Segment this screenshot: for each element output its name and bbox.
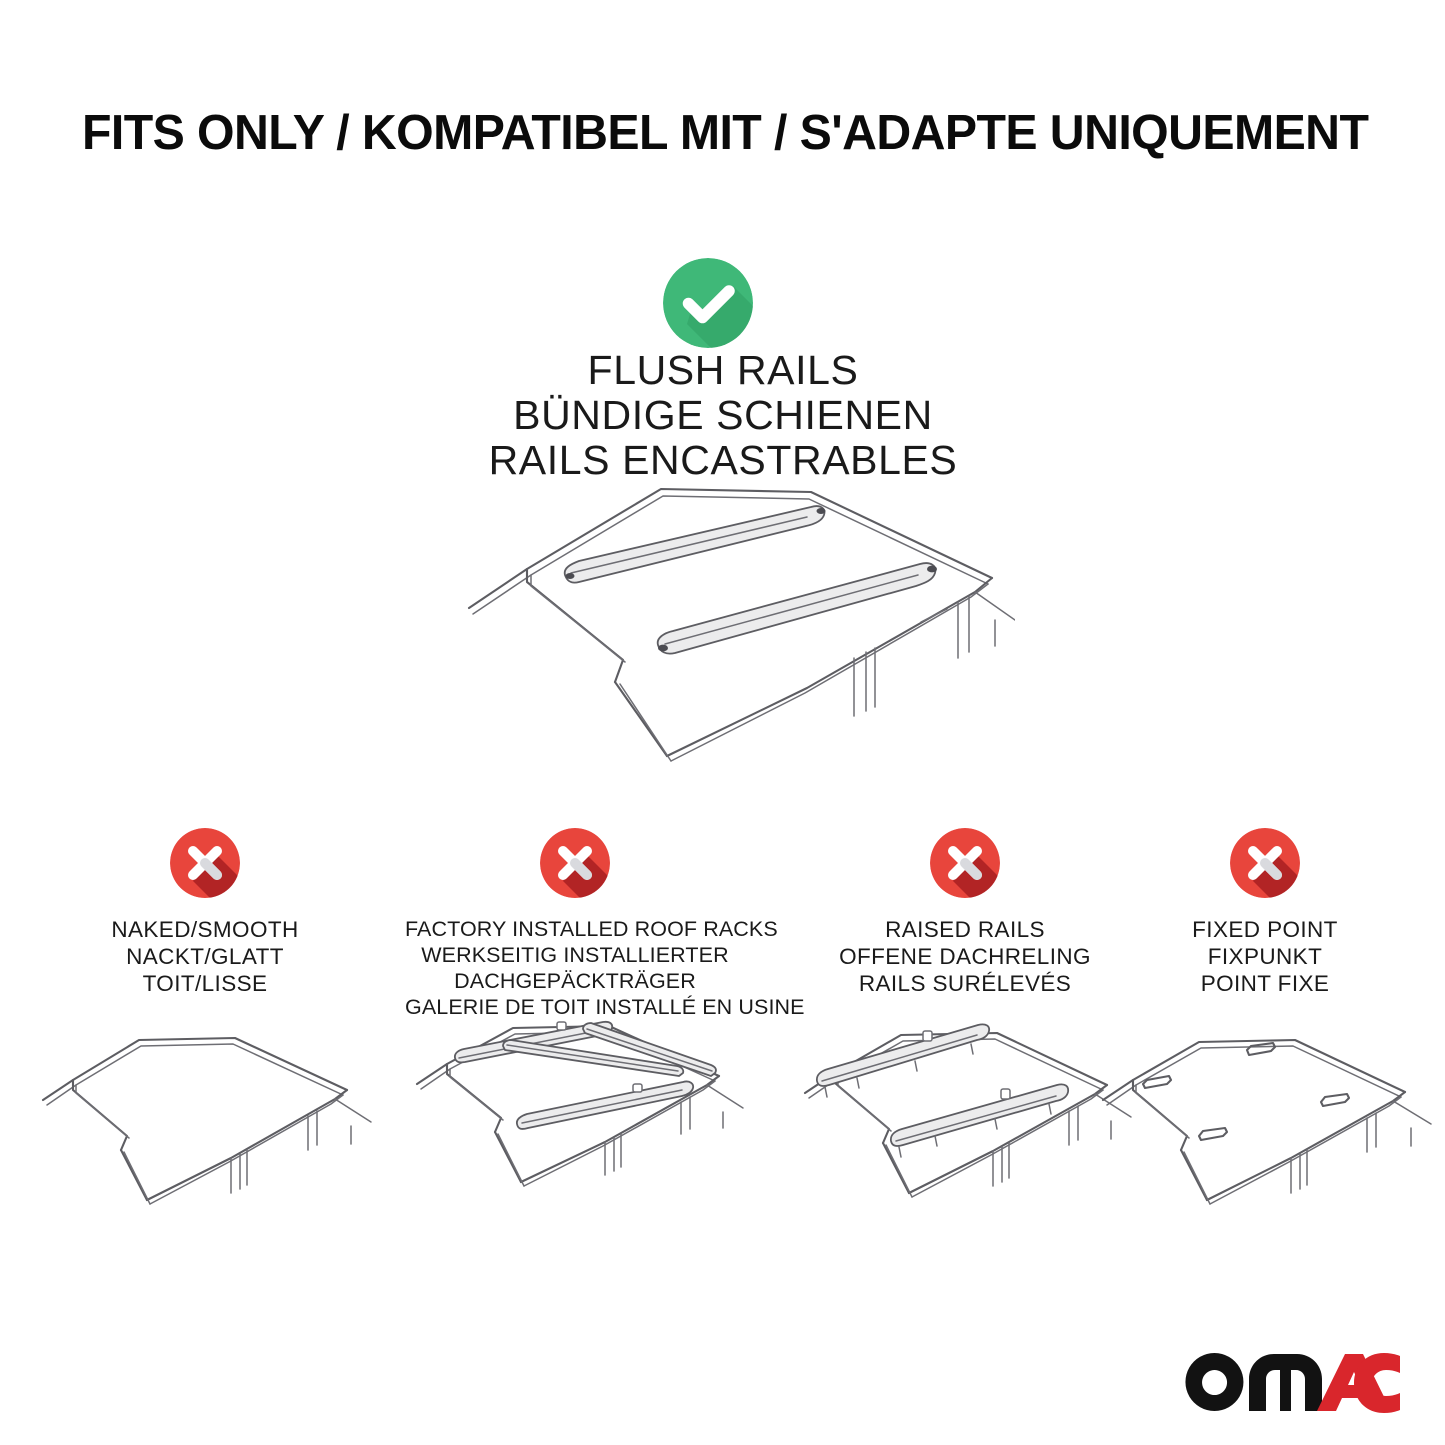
badge-wrap [795, 820, 1135, 904]
page-title: FITS ONLY / KOMPATIBEL MIT / S'ADAPTE UN… [82, 104, 1353, 162]
compatible-caption: FLUSH RAILS BÜNDIGE SCHIENEN RAILS ENCAS… [373, 348, 1073, 483]
incompatible-column-raised-rails: RAISED RAILS OFFENE DACHRELING RAILS SUR… [795, 820, 1135, 997]
x-circle-icon [540, 828, 610, 898]
caption-line-en: NAKED/SMOOTH [35, 916, 375, 943]
caption-line-de: OFFENE DACHRELING [795, 943, 1135, 970]
incompatible-column-fixed-point: FIXED POINT FIXPUNKT POINT FIXE [1095, 820, 1435, 997]
x-circle-icon [930, 828, 1000, 898]
caption-line-fr: POINT FIXE [1095, 970, 1435, 997]
check-circle-icon [663, 258, 753, 348]
incompatible-caption: FIXED POINT FIXPUNKT POINT FIXE [1095, 916, 1435, 997]
incompatible-caption: NAKED/SMOOTH NACKT/GLATT TOIT/LISSE [35, 916, 375, 997]
x-circle-icon [1230, 828, 1300, 898]
compatible-line-de: BÜNDIGE SCHIENEN [373, 393, 1073, 438]
caption-line-fr: RAILS SURÉLEVÉS [795, 970, 1135, 997]
caption-line-en: RAISED RAILS [795, 916, 1135, 943]
caption-line-de-2: DACHGEPÄCKTRÄGER [405, 968, 745, 994]
infographic-page: FITS ONLY / KOMPATIBEL MIT / S'ADAPTE UN… [0, 0, 1445, 1445]
badge-wrap [1095, 820, 1435, 904]
caption-line-fr: TOIT/LISSE [35, 970, 375, 997]
badge-wrap [405, 820, 745, 904]
car-roof-factory-roof-racks-illustration [405, 992, 745, 1207]
incompatible-column-factory-roof-racks: FACTORY INSTALLED ROOF RACKS WERKSEITIG … [405, 820, 745, 1020]
x-circle-icon [170, 828, 240, 898]
omac-logo [1185, 1352, 1400, 1414]
caption-line-en: FIXED POINT [1095, 916, 1435, 943]
car-roof-raised-rails-illustration [795, 1005, 1135, 1220]
caption-line-en: FACTORY INSTALLED ROOF RACKS [405, 916, 745, 942]
incompatible-caption: RAISED RAILS OFFENE DACHRELING RAILS SUR… [795, 916, 1135, 997]
caption-line-de: FIXPUNKT [1095, 943, 1435, 970]
car-roof-naked-smooth-illustration [35, 1018, 375, 1233]
car-roof-fixed-point-illustration [1095, 1018, 1435, 1233]
badge-wrap [35, 820, 375, 904]
caption-line-de-1: WERKSEITIG INSTALLIERTER [405, 942, 745, 968]
compatible-line-en: FLUSH RAILS [373, 348, 1073, 393]
caption-line-de: NACKT/GLATT [35, 943, 375, 970]
incompatible-column-naked-smooth: NAKED/SMOOTH NACKT/GLATT TOIT/LISSE [35, 820, 375, 997]
car-roof-with-flush-rails-illustration [455, 468, 1015, 768]
